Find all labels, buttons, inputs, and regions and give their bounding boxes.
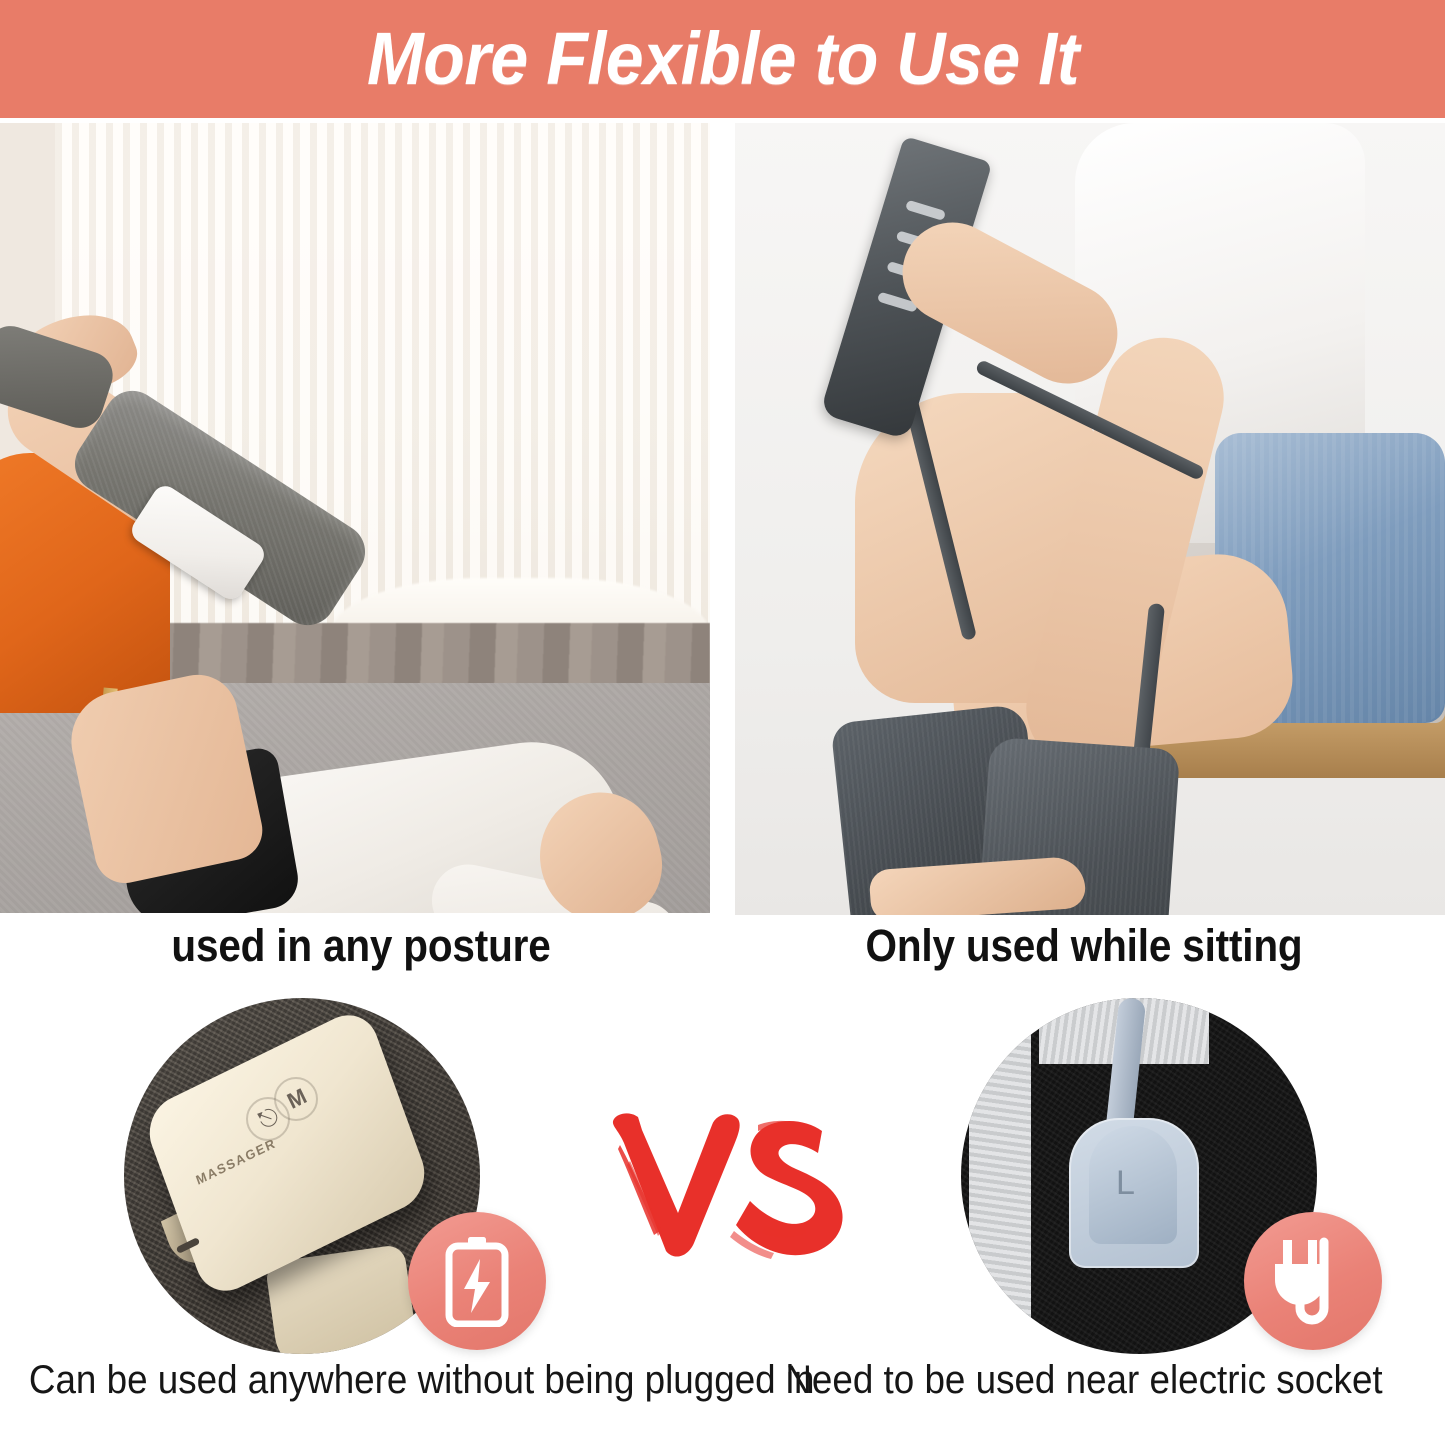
plug-badge <box>1244 1212 1382 1350</box>
battery-badge <box>408 1212 546 1350</box>
controller-button-1 <box>905 200 946 221</box>
bottom-caption-row: Can be used anywhere without being plugg… <box>0 1358 1445 1418</box>
caption-row: used in any posture Only used while sitt… <box>0 920 1445 1000</box>
webbing-strap-vertical <box>969 998 1031 1354</box>
right-photo-caption: Only used while sitting <box>759 920 1409 972</box>
infographic-page: More Flexible to Use It <box>0 0 1445 1445</box>
battery-charging-icon <box>444 1235 510 1327</box>
left-photo-caption: used in any posture <box>36 920 686 972</box>
photo-comparison-row <box>0 123 1445 915</box>
header-banner: More Flexible to Use It <box>0 0 1445 118</box>
connector-side-label: L <box>1116 1166 1135 1200</box>
vs-mark <box>608 1105 848 1290</box>
vs-brush-icon <box>608 1105 848 1290</box>
power-plug-icon <box>1271 1236 1355 1326</box>
page-title: More Flexible to Use It <box>367 22 1079 96</box>
left-lifestyle-photo <box>0 123 710 913</box>
left-bottom-caption: Can be used anywhere without being plugg… <box>29 1358 693 1403</box>
right-bottom-caption: Need to be used near electric socket <box>752 1358 1416 1403</box>
right-lifestyle-photo <box>735 123 1445 915</box>
